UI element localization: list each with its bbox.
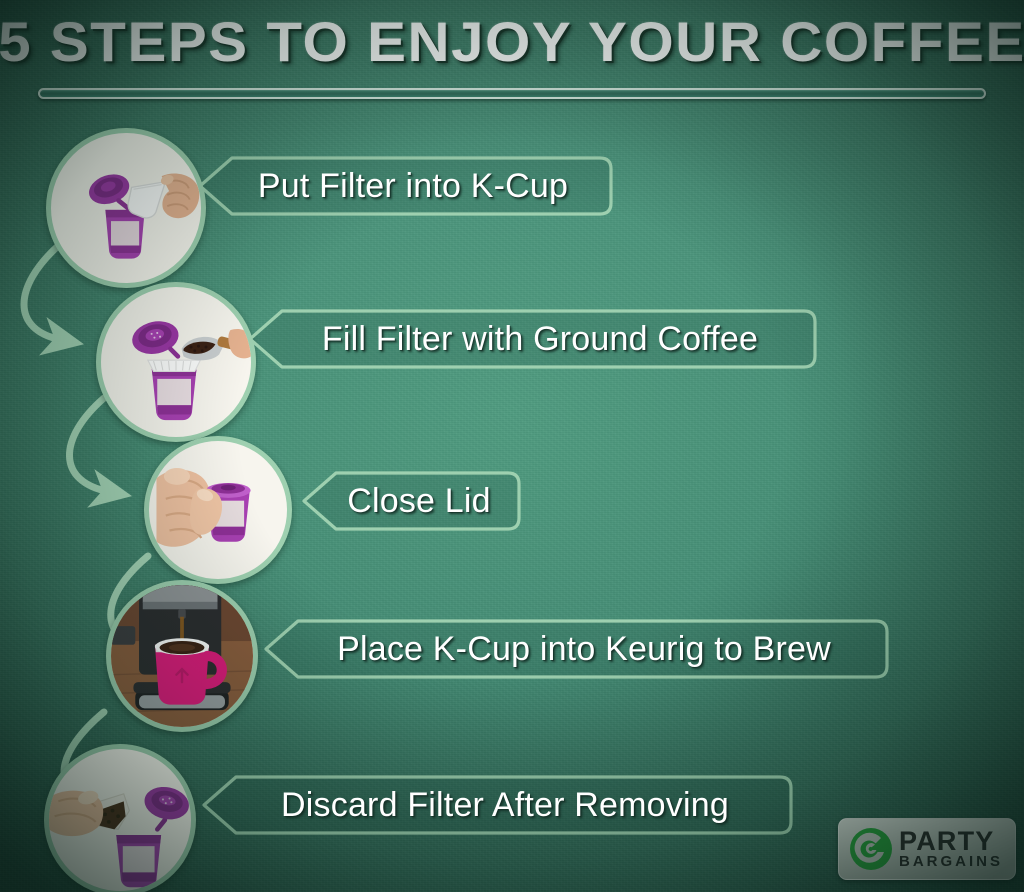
step-2-label-banner[interactable]: Fill Filter with Ground Coffee bbox=[246, 308, 818, 370]
title-divider bbox=[38, 88, 986, 99]
brand-logo[interactable]: PARTY BARGAINS bbox=[838, 818, 1016, 880]
logo-wordmark: PARTY BARGAINS bbox=[899, 828, 1003, 870]
step-4-image-circle bbox=[106, 580, 258, 732]
step-1-label: Put Filter into K-Cup bbox=[258, 167, 568, 206]
step-5-label-banner[interactable]: Discard Filter After Removing bbox=[200, 774, 794, 836]
step-3-photo-close-lid bbox=[149, 441, 287, 579]
step-3-label-banner[interactable]: Close Lid bbox=[300, 470, 522, 532]
step-1-label-banner[interactable]: Put Filter into K-Cup bbox=[196, 155, 614, 217]
step-1-image-circle bbox=[46, 128, 206, 288]
logo-secondary-text: BARGAINS bbox=[899, 854, 1003, 870]
step-4-label: Place K-Cup into Keurig to Brew bbox=[337, 630, 831, 669]
step-3-label: Close Lid bbox=[347, 482, 491, 521]
infographic-canvas: 5 STEPS TO ENJOY YOUR COFFEE bbox=[0, 0, 1024, 892]
step-4-label-banner[interactable]: Place K-Cup into Keurig to Brew bbox=[262, 618, 890, 680]
step-5-photo-discard-filter-after-removing bbox=[49, 749, 191, 891]
step-1-photo-put-filter-into-kcup bbox=[51, 133, 201, 283]
header: 5 STEPS TO ENJOY YOUR COFFEE bbox=[0, 0, 1024, 112]
party-bargains-swirl-icon bbox=[847, 825, 895, 873]
step-3-image-circle bbox=[144, 436, 292, 584]
step-2-image-circle bbox=[96, 282, 256, 442]
step-2-label: Fill Filter with Ground Coffee bbox=[322, 320, 758, 359]
step-5-label: Discard Filter After Removing bbox=[281, 786, 729, 825]
step-4-photo-place-kcup-into-keurig bbox=[111, 585, 253, 727]
step-2-photo-fill-filter-with-ground-coffee bbox=[101, 287, 251, 437]
step-5-image-circle bbox=[44, 744, 196, 892]
page-title: 5 STEPS TO ENJOY YOUR COFFEE bbox=[0, 13, 1024, 71]
logo-primary-text: PARTY bbox=[899, 828, 1003, 854]
